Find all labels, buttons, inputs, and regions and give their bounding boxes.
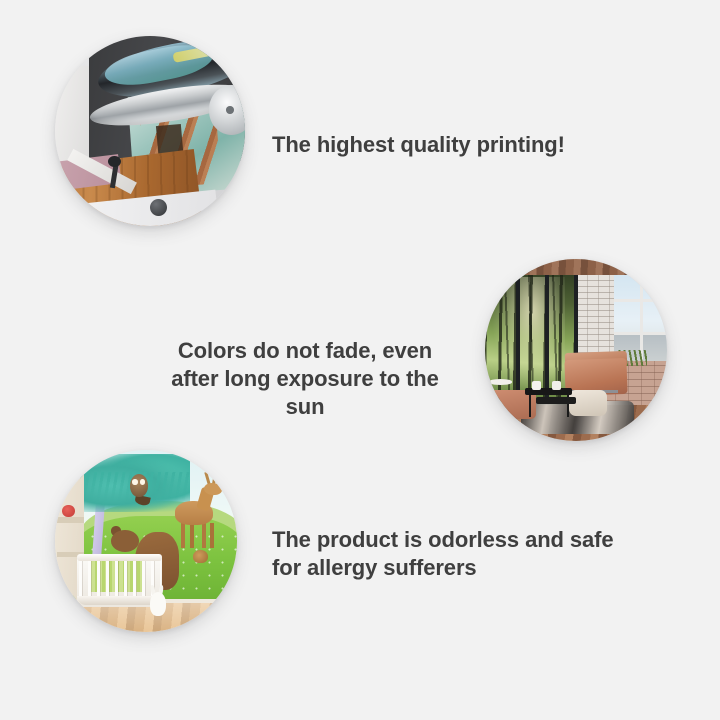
printing-machine-illustration (55, 36, 245, 226)
mural-bunny (150, 592, 166, 616)
crib-bars (79, 557, 161, 599)
mural-acorn (193, 550, 208, 563)
side-table (489, 379, 513, 384)
feature-image-printing (55, 36, 245, 226)
mural-owl (130, 474, 148, 498)
caption-odorless: The product is odorless and safe for all… (272, 526, 614, 582)
feature-image-odorless (55, 450, 237, 632)
mural-deer-leg-2 (190, 523, 194, 548)
caption-fade: Colors do not fade, even after long expo… (150, 337, 460, 421)
mural-owl-eye-right (140, 479, 145, 484)
mural-bear-head (111, 530, 138, 552)
mural-deer-leg-3 (202, 523, 206, 548)
coffee-table-leg-left (529, 394, 531, 418)
mural-deer-leg-4 (210, 523, 214, 548)
machine-knob-light (199, 207, 226, 226)
mural-deer-head (204, 483, 222, 496)
nursery-mural-illustration (55, 450, 237, 632)
nursery-shelf-upper (57, 517, 84, 522)
forest-mural-room-illustration (485, 259, 667, 441)
caption-printing: The highest quality printing! (272, 131, 565, 159)
nursery-floor-sheen (55, 603, 237, 632)
coffee-table-shelf (536, 397, 576, 403)
promo-feature-board: The highest quality printing! (0, 0, 720, 720)
crib-top-rail (77, 554, 163, 561)
roller-end-cap-bolt (226, 106, 234, 114)
feature-image-fade (485, 259, 667, 441)
coffee-cup-right (552, 381, 561, 390)
coffee-cup-left (532, 381, 541, 390)
wooden-ceiling (500, 259, 657, 275)
mural-deer-leg-1 (181, 523, 185, 548)
mural-owl-eye-left (132, 479, 137, 484)
